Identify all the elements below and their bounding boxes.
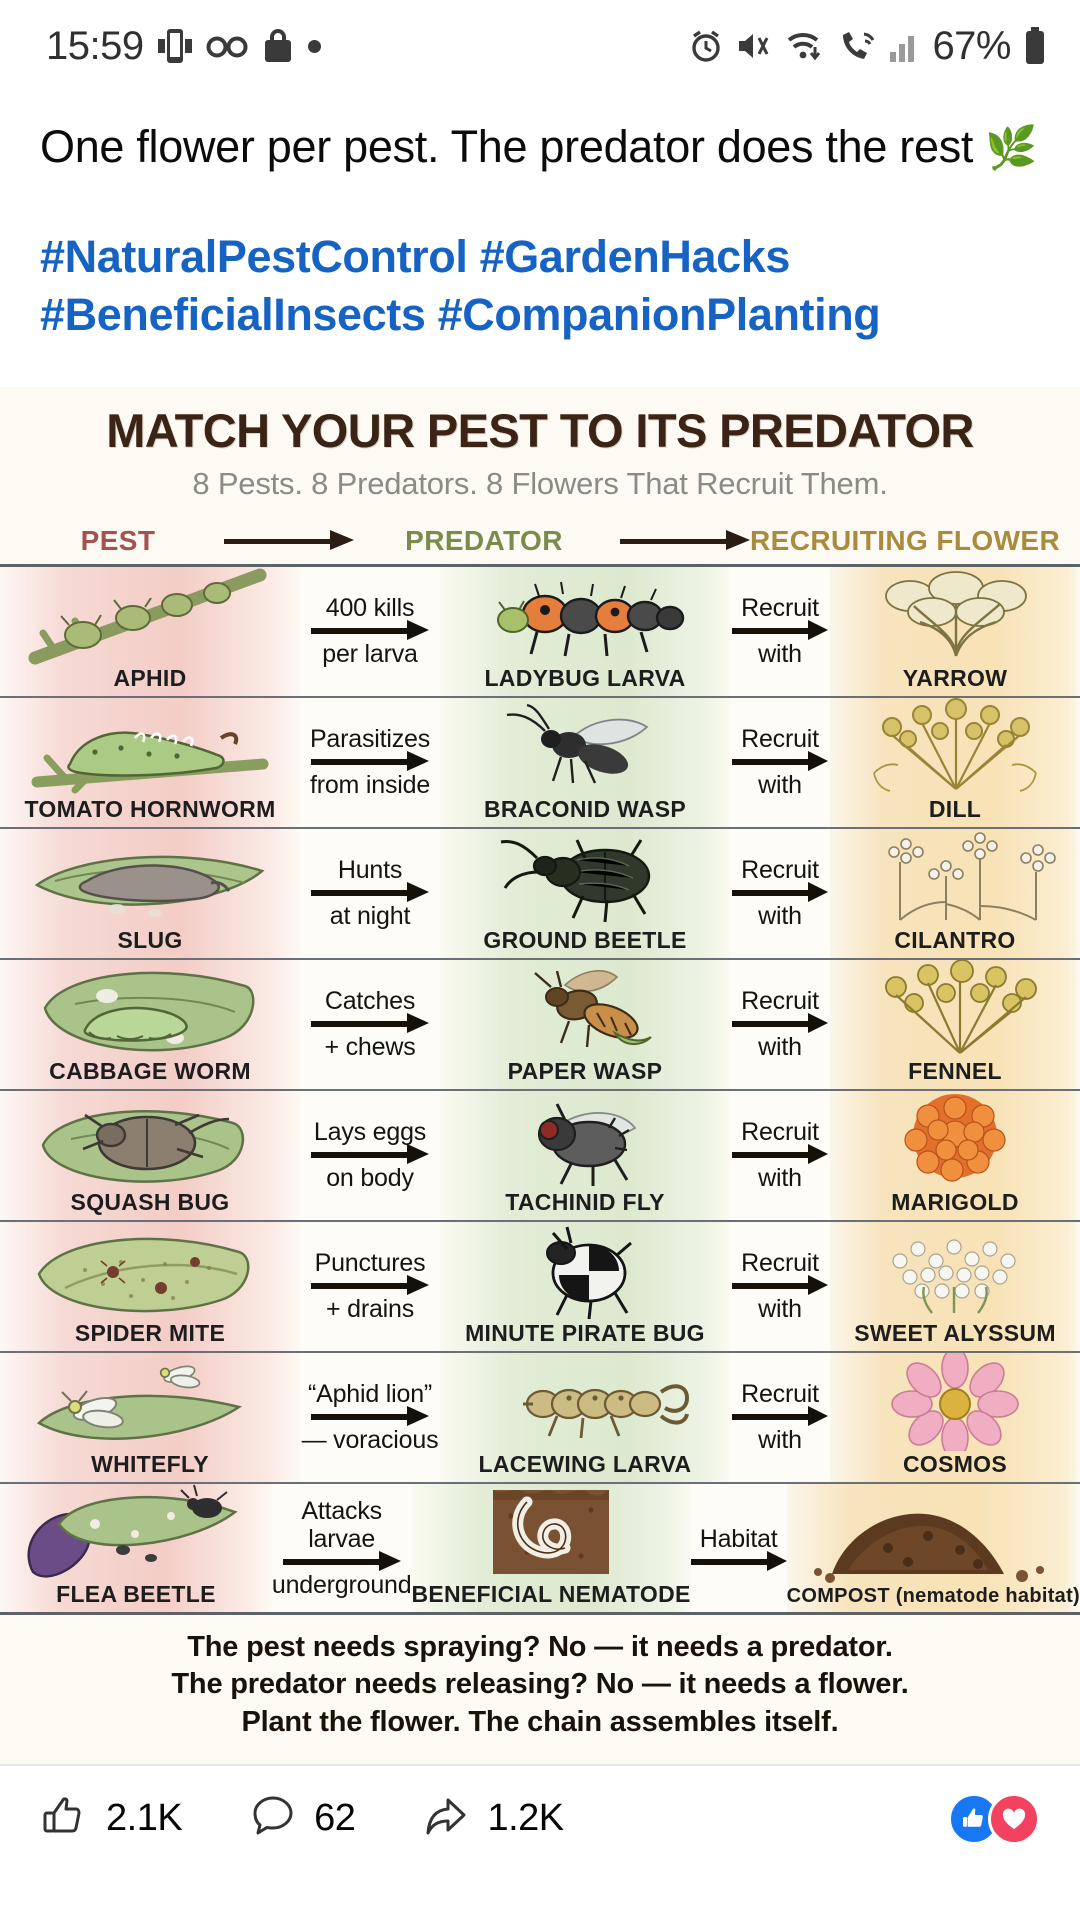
flower-relation-line-1: Recruit xyxy=(741,1380,819,1408)
predator-to-flower-relation: Recruitwith xyxy=(730,1222,830,1351)
relation-line-2: + chews xyxy=(324,1033,415,1061)
relation-arrow-icon xyxy=(311,1151,429,1159)
predator-label: MINUTE PIRATE BUG xyxy=(465,1320,705,1351)
flower-relation-line-2: with xyxy=(758,771,802,799)
table-row: SQUASH BUGLays eggson bodyTACHINID FLYRe… xyxy=(0,1091,1080,1222)
minute-pirate-bug-illustration xyxy=(440,1222,730,1320)
relation-line-1: Punctures xyxy=(315,1249,426,1277)
table-row: CABBAGE WORMCatches+ chewsPAPER WASPRecr… xyxy=(0,960,1080,1091)
tachinid-fly-illustration xyxy=(440,1091,730,1189)
tomato-hornworm-illustration xyxy=(0,698,300,796)
beneficial-nematode-illustration xyxy=(411,1484,690,1581)
cilantro-illustration xyxy=(830,829,1080,927)
column-header-predator: PREDATOR xyxy=(354,525,614,557)
predator-label: BRACONID WASP xyxy=(484,796,686,827)
pest-label: SLUG xyxy=(117,927,182,958)
flea-beetle-eggplant-illustration xyxy=(0,1484,272,1581)
table-row: SLUGHuntsat nightGROUND BEETLERecruitwit… xyxy=(0,829,1080,960)
status-bar-left: 15:59 xyxy=(46,24,321,69)
relation-line-1: Hunts xyxy=(338,856,402,884)
predator-label: TACHINID FLY xyxy=(505,1189,665,1220)
pest-cell: SPIDER MITE xyxy=(0,1222,300,1351)
mute-icon xyxy=(736,30,772,62)
footer-line-1: The pest needs spraying? No — it needs a… xyxy=(0,1629,1080,1667)
column-header-pest: PEST xyxy=(18,525,218,557)
pest-cell: CABBAGE WORM xyxy=(0,960,300,1089)
pest-cell: APHID xyxy=(0,567,300,696)
ladybug-larva-illustration xyxy=(440,567,730,665)
relation-arrow-icon xyxy=(311,1020,429,1028)
yarrow-illustration xyxy=(830,567,1080,665)
flower-cell: COSMOS xyxy=(830,1353,1080,1482)
comment-count: 62 xyxy=(314,1797,355,1840)
relation-arrow-icon xyxy=(311,1282,429,1290)
table-row: APHID400 killsper larvaLADYBUG LARVARecr… xyxy=(0,567,1080,698)
predator-to-flower-relation: Recruitwith xyxy=(730,1353,830,1482)
flower-relation-line-1: Recruit xyxy=(741,725,819,753)
flower-cell: YARROW xyxy=(830,567,1080,696)
predator-cell: BRACONID WASP xyxy=(440,698,730,827)
flower-relation-line-2: with xyxy=(758,1426,802,1454)
aphid-on-stem-illustration xyxy=(0,567,300,665)
flower-label: COSMOS xyxy=(903,1451,1007,1482)
flower-relation-line-1: Habitat xyxy=(700,1525,778,1553)
predator-cell: LADYBUG LARVA xyxy=(440,567,730,696)
flower-cell: CILANTRO xyxy=(830,829,1080,958)
post-body: One flower per pest. The predator does t… xyxy=(0,92,1080,345)
share-arrow-icon xyxy=(421,1791,471,1846)
matching-table: APHID400 killsper larvaLADYBUG LARVARecr… xyxy=(0,564,1080,1615)
slug-on-leaf-illustration xyxy=(0,829,300,927)
relation-line-1: “Aphid lion” xyxy=(308,1380,432,1408)
lacewing-larva-illustration xyxy=(440,1353,730,1451)
pest-to-predator-relation: Huntsat night xyxy=(300,829,440,958)
pest-cell: FLEA BEETLE xyxy=(0,1484,272,1612)
pest-label: SQUASH BUG xyxy=(71,1189,230,1220)
share-count: 1.2K xyxy=(487,1797,563,1840)
signal-bars-icon xyxy=(889,30,919,62)
predator-label: PAPER WASP xyxy=(508,1058,663,1089)
flower-relation-line-2: with xyxy=(758,1033,802,1061)
flower-relation-line-2: with xyxy=(758,902,802,930)
flower-relation-arrow-icon xyxy=(732,1151,828,1159)
pest-to-predator-relation: Attacks larvaeunderground xyxy=(272,1484,412,1612)
flower-cell: SWEET ALYSSUM xyxy=(830,1222,1080,1351)
flower-relation-arrow-icon xyxy=(732,889,828,897)
flower-relation-line-2: with xyxy=(758,640,802,668)
engagement-bar: 2.1K 62 1.2K xyxy=(0,1764,1080,1872)
marigold-illustration xyxy=(830,1091,1080,1189)
predator-to-flower-relation: Recruitwith xyxy=(730,829,830,958)
relation-line-2: at night xyxy=(330,902,410,930)
reaction-badges[interactable] xyxy=(948,1793,1040,1845)
table-row: FLEA BEETLEAttacks larvaeundergroundBENE… xyxy=(0,1484,1080,1615)
relation-line-2: on body xyxy=(326,1164,414,1192)
predator-to-flower-relation: Habitat xyxy=(691,1484,787,1612)
relation-line-1: 400 kills xyxy=(326,594,415,622)
hashtag-line-1[interactable]: #NaturalPestControl #GardenHacks xyxy=(40,228,1040,287)
predator-cell: MINUTE PIRATE BUG xyxy=(440,1222,730,1351)
table-row: TOMATO HORNWORMParasitizesfrom insideBRA… xyxy=(0,698,1080,829)
predator-cell: PAPER WASP xyxy=(440,960,730,1089)
predator-label: LADYBUG LARVA xyxy=(484,665,685,696)
pest-label: APHID xyxy=(113,665,186,696)
sweet-alyssum-illustration xyxy=(830,1222,1080,1320)
hashtag-line-2[interactable]: #BeneficialInsects #CompanionPlanting xyxy=(40,286,1040,345)
relation-line-2: + drains xyxy=(326,1295,414,1323)
voicemail-icon xyxy=(206,33,248,59)
battery-percent-label: 67% xyxy=(932,24,1011,69)
flower-relation-line-1: Recruit xyxy=(741,1249,819,1277)
infographic-title: MATCH YOUR PEST TO ITS PREDATOR xyxy=(0,387,1080,458)
header-arrow-pest-to-predator xyxy=(218,537,354,545)
bag-icon xyxy=(262,28,294,64)
relation-line-2: underground xyxy=(272,1571,412,1599)
relation-line-1: Lays eggs xyxy=(314,1118,426,1146)
pest-cell: WHITEFLY xyxy=(0,1353,300,1482)
flower-relation-line-2: with xyxy=(758,1164,802,1192)
flower-label: FENNEL xyxy=(908,1058,1002,1089)
post-hashtags[interactable]: #NaturalPestControl #GardenHacks #Benefi… xyxy=(40,228,1040,345)
infographic-subtitle: 8 Pests. 8 Predators. 8 Flowers That Rec… xyxy=(0,466,1080,502)
pest-to-predator-relation: “Aphid lion”— voracious xyxy=(300,1353,440,1482)
predator-label: LACEWING LARVA xyxy=(479,1451,692,1482)
pest-cell: SLUG xyxy=(0,829,300,958)
like-count: 2.1K xyxy=(106,1797,182,1840)
flower-relation-arrow-icon xyxy=(732,1282,828,1290)
flower-cell: COMPOST (nematode habitat) xyxy=(787,1484,1080,1612)
post-caption: One flower per pest. The predator does t… xyxy=(40,118,1040,176)
pest-label: TOMATO HORNWORM xyxy=(24,796,275,827)
predator-cell: TACHINID FLY xyxy=(440,1091,730,1220)
relation-arrow-icon xyxy=(311,1413,429,1421)
pest-to-predator-relation: Parasitizesfrom inside xyxy=(300,698,440,827)
predator-label: BENEFICIAL NEMATODE xyxy=(411,1581,690,1612)
predator-to-flower-relation: Recruitwith xyxy=(730,1091,830,1220)
status-bar-right: 67% xyxy=(689,24,1046,69)
predator-cell: LACEWING LARVA xyxy=(440,1353,730,1482)
flower-relation-arrow-icon xyxy=(732,627,828,635)
cosmos-illustration xyxy=(830,1353,1080,1451)
pest-label: CABBAGE WORM xyxy=(49,1058,251,1089)
infographic-image[interactable]: MATCH YOUR PEST TO ITS PREDATOR 8 Pests.… xyxy=(0,387,1080,1764)
flower-relation-arrow-icon xyxy=(732,1020,828,1028)
relation-arrow-icon xyxy=(283,1558,401,1566)
dill-illustration xyxy=(830,698,1080,796)
share-button[interactable]: 1.2K xyxy=(421,1791,563,1846)
relation-line-2: from inside xyxy=(310,771,430,799)
fennel-illustration xyxy=(830,960,1080,1058)
predator-to-flower-relation: Recruitwith xyxy=(730,960,830,1089)
flower-label: COMPOST (nematode habitat) xyxy=(787,1585,1080,1612)
alarm-icon xyxy=(689,29,723,63)
relation-line-1: Parasitizes xyxy=(310,725,430,753)
predator-cell: BENEFICIAL NEMATODE xyxy=(411,1484,690,1612)
relation-arrow-icon xyxy=(311,627,429,635)
pest-label: WHITEFLY xyxy=(91,1451,209,1482)
header-arrow-predator-to-flower xyxy=(614,537,750,545)
table-row: SPIDER MITEPunctures+ drainsMINUTE PIRAT… xyxy=(0,1222,1080,1353)
flower-relation-arrow-icon xyxy=(691,1558,787,1566)
relation-line-2: — voracious xyxy=(302,1426,439,1454)
flower-cell: DILL xyxy=(830,698,1080,827)
pest-label: SPIDER MITE xyxy=(75,1320,225,1351)
post-caption-text: One flower per pest. The predator does t… xyxy=(40,121,973,172)
pest-to-predator-relation: Catches+ chews xyxy=(300,960,440,1089)
like-button[interactable]: 2.1K xyxy=(40,1791,182,1846)
flower-relation-line-1: Recruit xyxy=(741,594,819,622)
pest-to-predator-relation: 400 killsper larva xyxy=(300,567,440,696)
whitefly-illustration xyxy=(0,1353,300,1451)
predator-label: GROUND BEETLE xyxy=(483,927,686,958)
love-reaction-badge xyxy=(988,1793,1040,1845)
wifi-data-icon xyxy=(785,29,825,63)
braconid-wasp-illustration xyxy=(440,698,730,796)
flower-relation-line-2: with xyxy=(758,1295,802,1323)
flower-relation-line-1: Recruit xyxy=(741,1118,819,1146)
phone-link-icon xyxy=(158,27,192,65)
flower-label: MARIGOLD xyxy=(891,1189,1019,1220)
dot-icon xyxy=(308,40,321,53)
spider-mite-leaf-illustration xyxy=(0,1222,300,1320)
pest-cell: SQUASH BUG xyxy=(0,1091,300,1220)
flower-relation-line-1: Recruit xyxy=(741,856,819,884)
squash-bug-illustration xyxy=(0,1091,300,1189)
pest-label: FLEA BEETLE xyxy=(56,1581,216,1612)
cabbage-worm-illustration xyxy=(0,960,300,1058)
footer-line-2: The predator needs releasing? No — it ne… xyxy=(0,1666,1080,1704)
predator-to-flower-relation: Recruitwith xyxy=(730,698,830,827)
relation-line-2: per larva xyxy=(322,640,417,668)
relation-arrow-icon xyxy=(311,889,429,897)
table-row: WHITEFLY“Aphid lion”— voraciousLACEWING … xyxy=(0,1353,1080,1484)
flower-relation-arrow-icon xyxy=(732,758,828,766)
flower-label: DILL xyxy=(929,796,981,827)
infographic-footer: The pest needs spraying? No — it needs a… xyxy=(0,1615,1080,1758)
call-wifi-icon xyxy=(838,30,876,62)
flower-label: YARROW xyxy=(903,665,1007,696)
flower-label: CILANTRO xyxy=(894,927,1015,958)
flower-label: SWEET ALYSSUM xyxy=(854,1320,1056,1351)
ground-beetle-illustration xyxy=(440,829,730,927)
pest-cell: TOMATO HORNWORM xyxy=(0,698,300,827)
herb-leaf-emoji: 🌿 xyxy=(985,124,1037,171)
flower-relation-line-1: Recruit xyxy=(741,987,819,1015)
flower-relation-arrow-icon xyxy=(732,1413,828,1421)
predator-to-flower-relation: Recruitwith xyxy=(730,567,830,696)
comment-bubble-icon xyxy=(248,1791,298,1846)
column-headers: PEST PREDATOR RECRUITING FLOWER xyxy=(0,518,1080,564)
comment-button[interactable]: 62 xyxy=(248,1791,355,1846)
relation-arrow-icon xyxy=(311,758,429,766)
battery-icon xyxy=(1024,27,1046,65)
status-bar: 15:59 67% xyxy=(0,0,1080,92)
relation-line-1: Attacks larvae xyxy=(272,1497,412,1553)
pest-to-predator-relation: Lays eggson body xyxy=(300,1091,440,1220)
pest-to-predator-relation: Punctures+ drains xyxy=(300,1222,440,1351)
footer-line-3: Plant the flower. The chain assembles it… xyxy=(0,1704,1080,1742)
thumbs-up-icon xyxy=(40,1791,90,1846)
status-clock: 15:59 xyxy=(46,24,144,69)
paper-wasp-illustration xyxy=(440,960,730,1058)
flower-cell: FENNEL xyxy=(830,960,1080,1089)
relation-line-1: Catches xyxy=(325,987,415,1015)
compost-pile-illustration xyxy=(787,1484,1080,1585)
flower-cell: MARIGOLD xyxy=(830,1091,1080,1220)
column-header-flower: RECRUITING FLOWER xyxy=(750,525,1060,557)
predator-cell: GROUND BEETLE xyxy=(440,829,730,958)
